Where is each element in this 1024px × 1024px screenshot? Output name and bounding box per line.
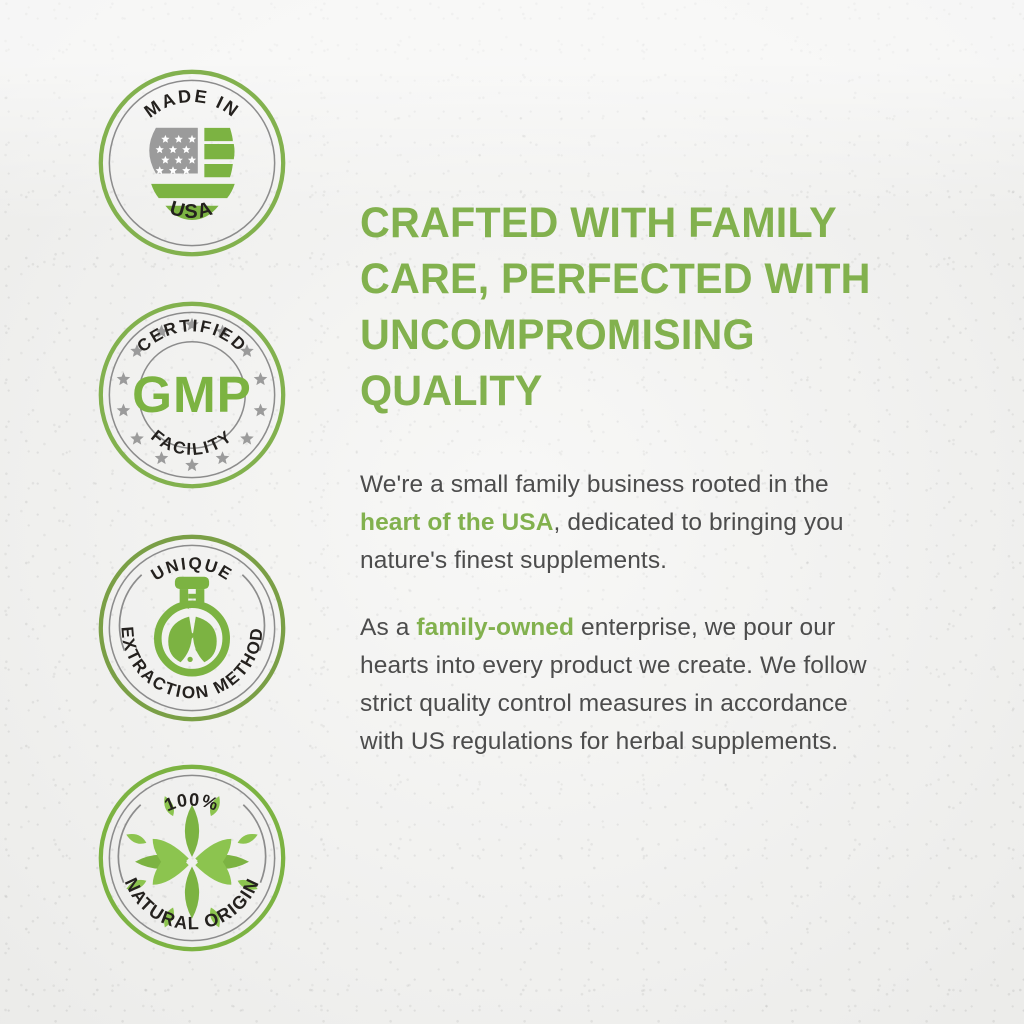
flask-leaf-icon — [158, 577, 226, 673]
highlighted-phrase: family-owned — [416, 614, 574, 641]
trust-badge-column: MADE IN USA GMP — [0, 0, 340, 1024]
body-text-run: As a — [360, 614, 416, 641]
paragraph-2: As a family-owned enterprise, we pour ou… — [360, 609, 880, 761]
highlighted-phrase: heart of the USA — [360, 509, 554, 536]
badge-gmp-certified-facility: GMP CERTIFIED FACILITY — [97, 300, 287, 490]
badge-bottom-label: USA — [167, 197, 216, 223]
badge-natural-origin: 100% NATURAL ORIGIN — [97, 763, 287, 953]
badge-top-label: MADE IN — [141, 86, 244, 122]
page-title: CRAFTED WITH FAMILY CARE, PERFECTED WITH… — [360, 196, 898, 420]
copy-column: CRAFTED WITH FAMILY CARE, PERFECTED WITH… — [360, 196, 920, 761]
badge-made-in-usa: MADE IN USA — [97, 68, 287, 258]
arc-decor-right — [243, 805, 265, 883]
badge-unique-extraction-method: UNIQUE EXTRACTION METHOD — [97, 533, 287, 723]
body-text-run: We're a small family business rooted in … — [360, 471, 829, 498]
paragraph-1: We're a small family business rooted in … — [360, 466, 880, 580]
badge-center-label: GMP — [132, 366, 252, 423]
arc-decor-left — [118, 805, 140, 883]
promo-panel: MADE IN USA GMP — [0, 0, 1024, 1024]
body-copy: We're a small family business rooted in … — [360, 466, 880, 762]
